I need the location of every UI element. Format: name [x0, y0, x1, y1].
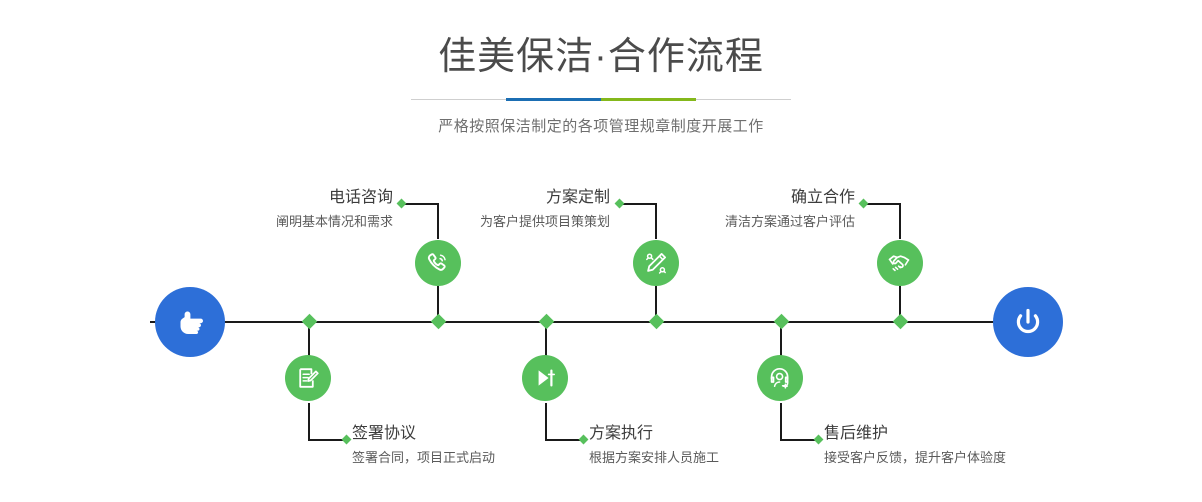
connector-horizontal-step-5: [865, 203, 901, 205]
step-title-step-3: 方案定制: [380, 188, 610, 208]
step-label-step-5: 确立合作 清洁方案通过客户评估: [625, 188, 855, 231]
step-title-step-1: 电话咨询: [148, 188, 393, 208]
axis-marker-step-4: [539, 314, 555, 330]
timeline-axis: [150, 321, 1052, 323]
step-desc-step-5: 清洁方案通过客户评估: [625, 208, 855, 231]
play-execute-icon: [532, 365, 558, 391]
label-bullet-step-2: [342, 435, 352, 445]
phone-call-icon: [425, 250, 451, 276]
document-edit-icon: [295, 365, 321, 391]
axis-marker-step-5: [893, 314, 909, 330]
process-timeline: 电话咨询 阐明基本情况和需求 签署协议 签署合同，项目正式启动: [0, 0, 1202, 502]
timeline-start-node[interactable]: [155, 287, 225, 357]
axis-marker-step-1: [431, 314, 447, 330]
pointing-hand-icon: [170, 302, 210, 342]
connector-horizontal-step-2: [308, 439, 344, 441]
step-title-step-6: 售后维护: [824, 424, 1124, 444]
axis-marker-step-2: [302, 314, 318, 330]
step-node-icon-step-1[interactable]: [415, 240, 461, 286]
step-node-icon-step-3[interactable]: [633, 240, 679, 286]
step-desc-step-6: 接受客户反馈，提升客户体验度: [824, 444, 1124, 467]
timeline-end-node[interactable]: [993, 287, 1063, 357]
step-label-step-6: 售后维护 接受客户反馈，提升客户体验度: [824, 424, 1124, 467]
axis-marker-step-3: [649, 314, 665, 330]
step-label-step-1: 电话咨询 阐明基本情况和需求: [148, 188, 393, 231]
pencil-design-icon: [643, 250, 669, 276]
label-bullet-step-5: [859, 199, 869, 209]
step-title-step-5: 确立合作: [625, 188, 855, 208]
step-desc-step-3: 为客户提供项目策策划: [380, 208, 610, 231]
step-node-icon-step-2[interactable]: [285, 355, 331, 401]
step-node-icon-step-5[interactable]: [877, 240, 923, 286]
label-bullet-step-3: [615, 199, 625, 209]
connector-vertical-step-5-label: [899, 203, 901, 239]
step-node-icon-step-4[interactable]: [522, 355, 568, 401]
customer-service-icon: [767, 365, 793, 391]
step-label-step-3: 方案定制 为客户提供项目策策划: [380, 188, 610, 231]
power-icon: [1008, 302, 1048, 342]
handshake-icon: [887, 250, 913, 276]
axis-marker-step-6: [774, 314, 790, 330]
step-node-icon-step-6[interactable]: [757, 355, 803, 401]
connector-vertical-step-2-label: [308, 403, 310, 441]
step-desc-step-1: 阐明基本情况和需求: [148, 208, 393, 231]
